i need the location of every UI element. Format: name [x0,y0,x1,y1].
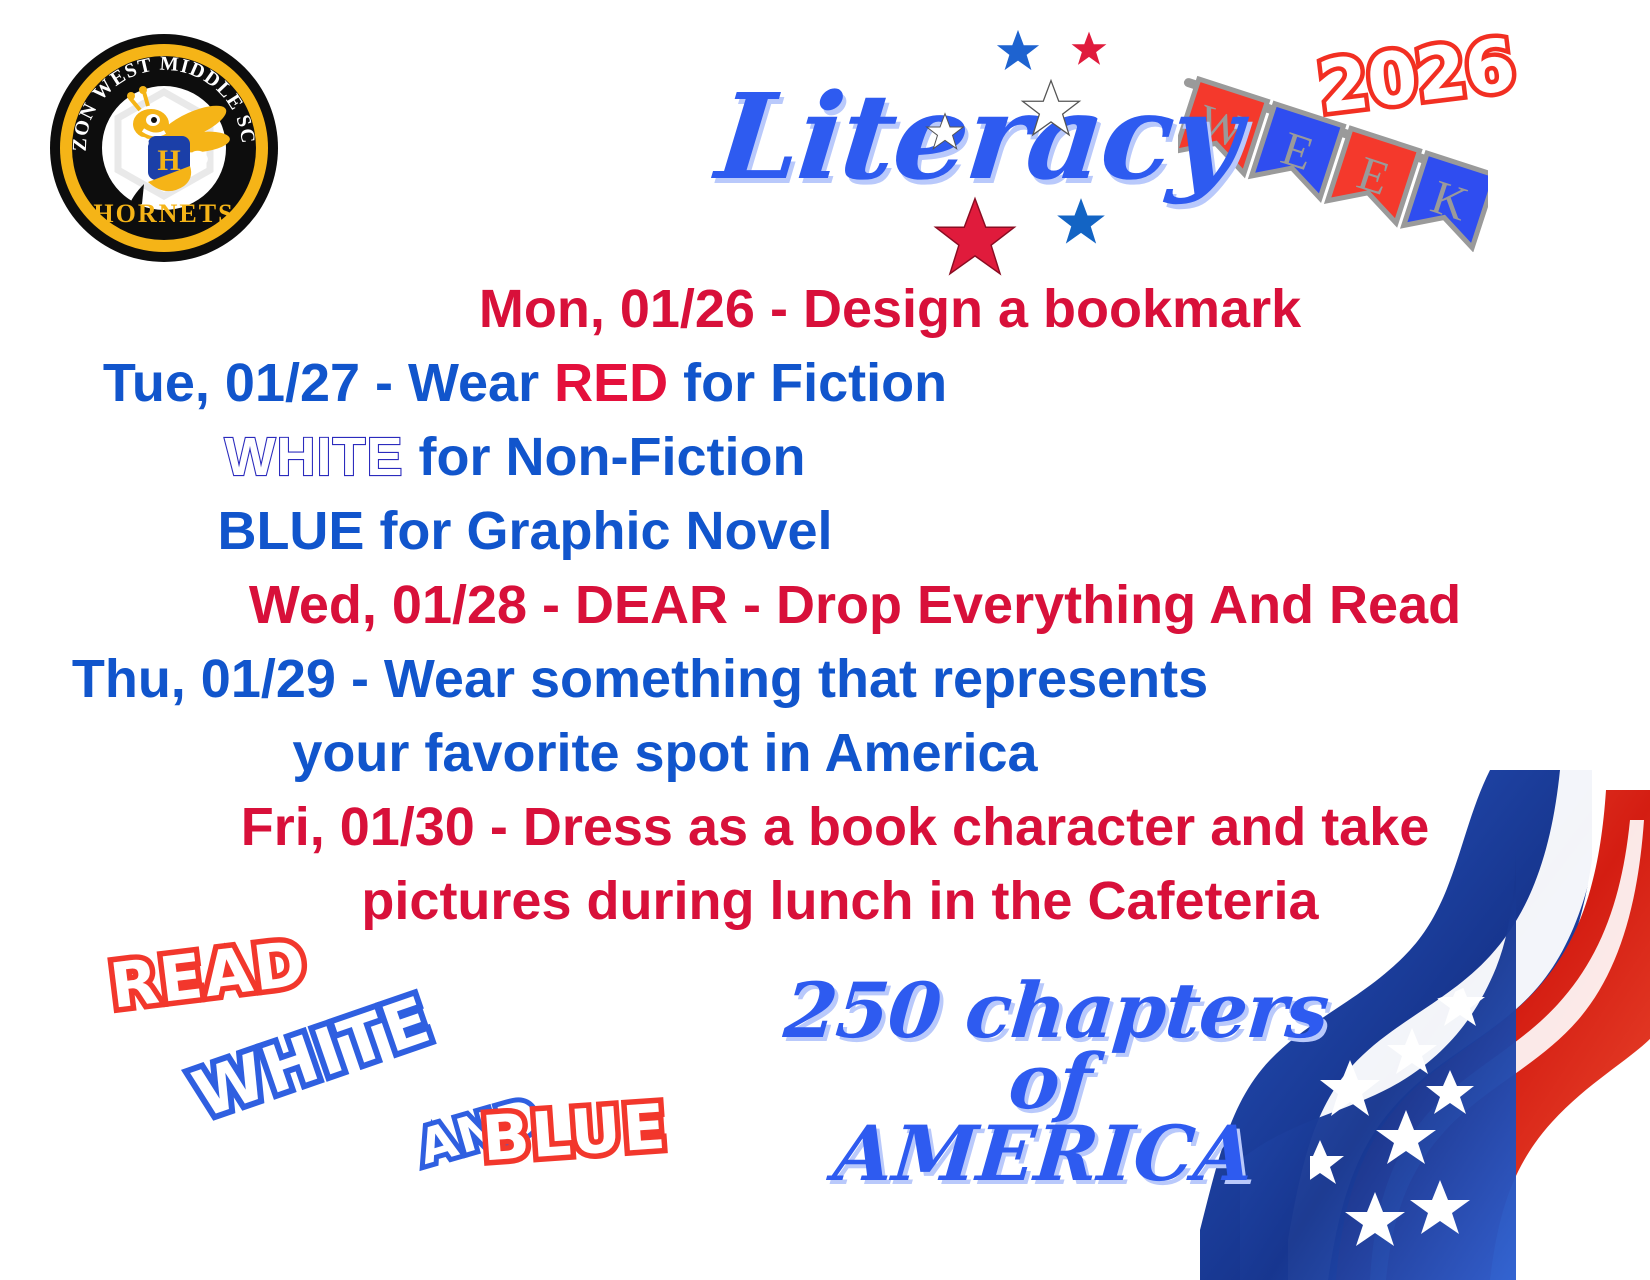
schedule-line-white: WHITE for Non-Fiction [0,420,1650,494]
tue-suffix: for Fiction [668,353,947,413]
schedule-line-mon: Mon, 01/26 - Design a bookmark [0,272,1650,346]
schedule-line-fri: Fri, 01/30 - Dress as a book character a… [0,790,1650,864]
white-suffix: for Non-Fiction [404,427,806,487]
page-title-literacy: Literacy [712,78,1245,196]
chapters-of-america-callout: 250 chapters of AMERICA [761,975,1340,1189]
school-logo: HORIZON WEST MIDDLE SCHOOL H HOR [48,32,280,264]
star-red-top-icon [1070,30,1108,68]
chapters-line-1: 250 chapters of [767,975,1340,1118]
schedule-line-thu-cont: your favorite spot in America [0,716,1650,790]
read-white-and-blue-stamp: READ WHITE AND BLUE [90,930,730,1180]
year-label-2026: 2026 [1314,28,1518,123]
stamp-word-blue: BLUE [480,1096,669,1171]
poster-canvas: HORIZON WEST MIDDLE SCHOOL H HOR [0,0,1650,1275]
schedule-line-fri-cont: pictures during lunch in the Cafeteria [0,864,1650,938]
star-white-small-icon [925,112,965,152]
tue-prefix: Tue, 01/27 - Wear [103,353,554,413]
white-word: WHITE [225,427,404,487]
schedule-line-blue: BLUE for Graphic Novel [0,494,1650,568]
schedule-line-wed: Wed, 01/28 - DEAR - Drop Everything And … [0,568,1650,642]
schedule-line-thu: Thu, 01/29 - Wear something that represe… [0,642,1650,716]
tue-red-word: RED [554,353,668,413]
star-white-outline-icon [1020,78,1082,140]
schedule-line-tue: Tue, 01/27 - Wear RED for Fiction [0,346,1650,420]
schedule-list: Mon, 01/26 - Design a bookmark Tue, 01/2… [0,272,1650,938]
stamp-word-read: READ [107,932,311,1018]
svg-text:HORNETS: HORNETS [93,199,234,228]
star-blue-small-icon [1055,196,1107,248]
chapters-line-2: AMERICA [761,1118,1327,1189]
star-red-large-icon [932,195,1018,281]
